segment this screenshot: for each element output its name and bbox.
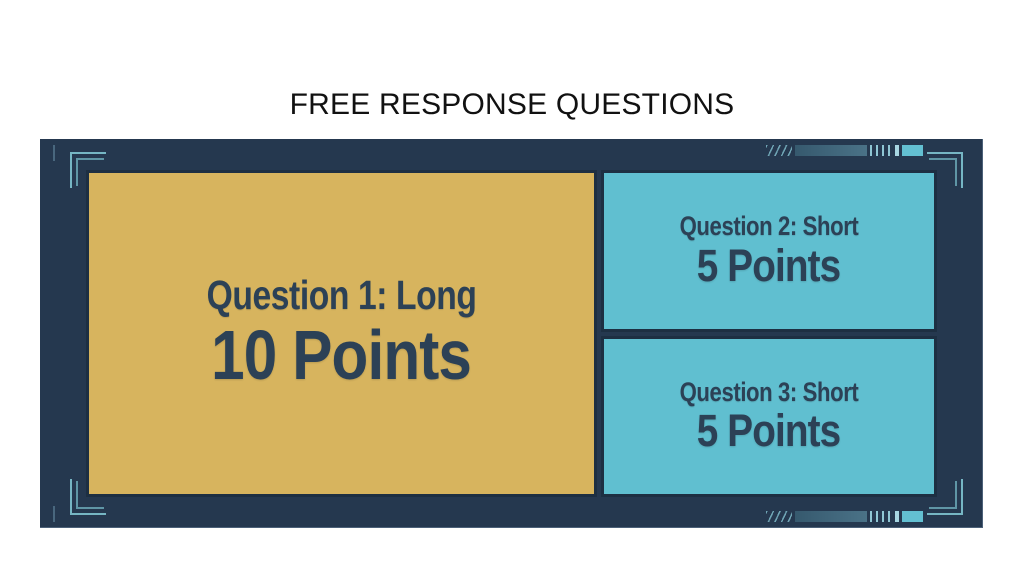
hud-dot-icon xyxy=(895,145,899,156)
question-panel-1[interactable]: Question 1: Long 10 Points xyxy=(86,170,597,497)
hud-hatch-marks-icon xyxy=(766,511,792,522)
question-1-label: Question 1: Long xyxy=(207,274,477,317)
question-panel-2[interactable]: Question 2: Short 5 Points xyxy=(601,170,937,332)
hud-solid-block-icon xyxy=(902,511,923,522)
hud-hatch-marks-icon xyxy=(766,145,792,156)
question-panel-grid: Question 1: Long 10 Points Question 2: S… xyxy=(86,170,937,497)
hud-gradient-bar-icon xyxy=(795,145,867,156)
question-2-points: 5 Points xyxy=(697,242,841,289)
question-2-label: Question 2: Short xyxy=(680,212,859,240)
question-3-points: 5 Points xyxy=(697,407,841,454)
question-1-points: 10 Points xyxy=(212,319,472,393)
page-title: FREE RESPONSE QUESTIONS xyxy=(0,88,1024,122)
question-3-label: Question 3: Short xyxy=(680,378,859,406)
hud-strip-bottom xyxy=(766,511,923,522)
hud-tick-marks-icon xyxy=(870,511,892,522)
hud-strip-top xyxy=(766,145,923,156)
short-question-column: Question 2: Short 5 Points Question 3: S… xyxy=(601,170,937,497)
hud-tick-marks-icon xyxy=(870,145,892,156)
hud-dot-icon xyxy=(895,511,899,522)
question-panel-3[interactable]: Question 3: Short 5 Points xyxy=(601,336,937,498)
hud-gradient-bar-icon xyxy=(795,511,867,522)
corner-tick-top-left-icon xyxy=(53,145,55,161)
hud-solid-block-icon xyxy=(902,145,923,156)
diagram-frame: Question 1: Long 10 Points Question 2: S… xyxy=(40,139,983,528)
corner-tick-bottom-left-icon xyxy=(53,506,55,522)
